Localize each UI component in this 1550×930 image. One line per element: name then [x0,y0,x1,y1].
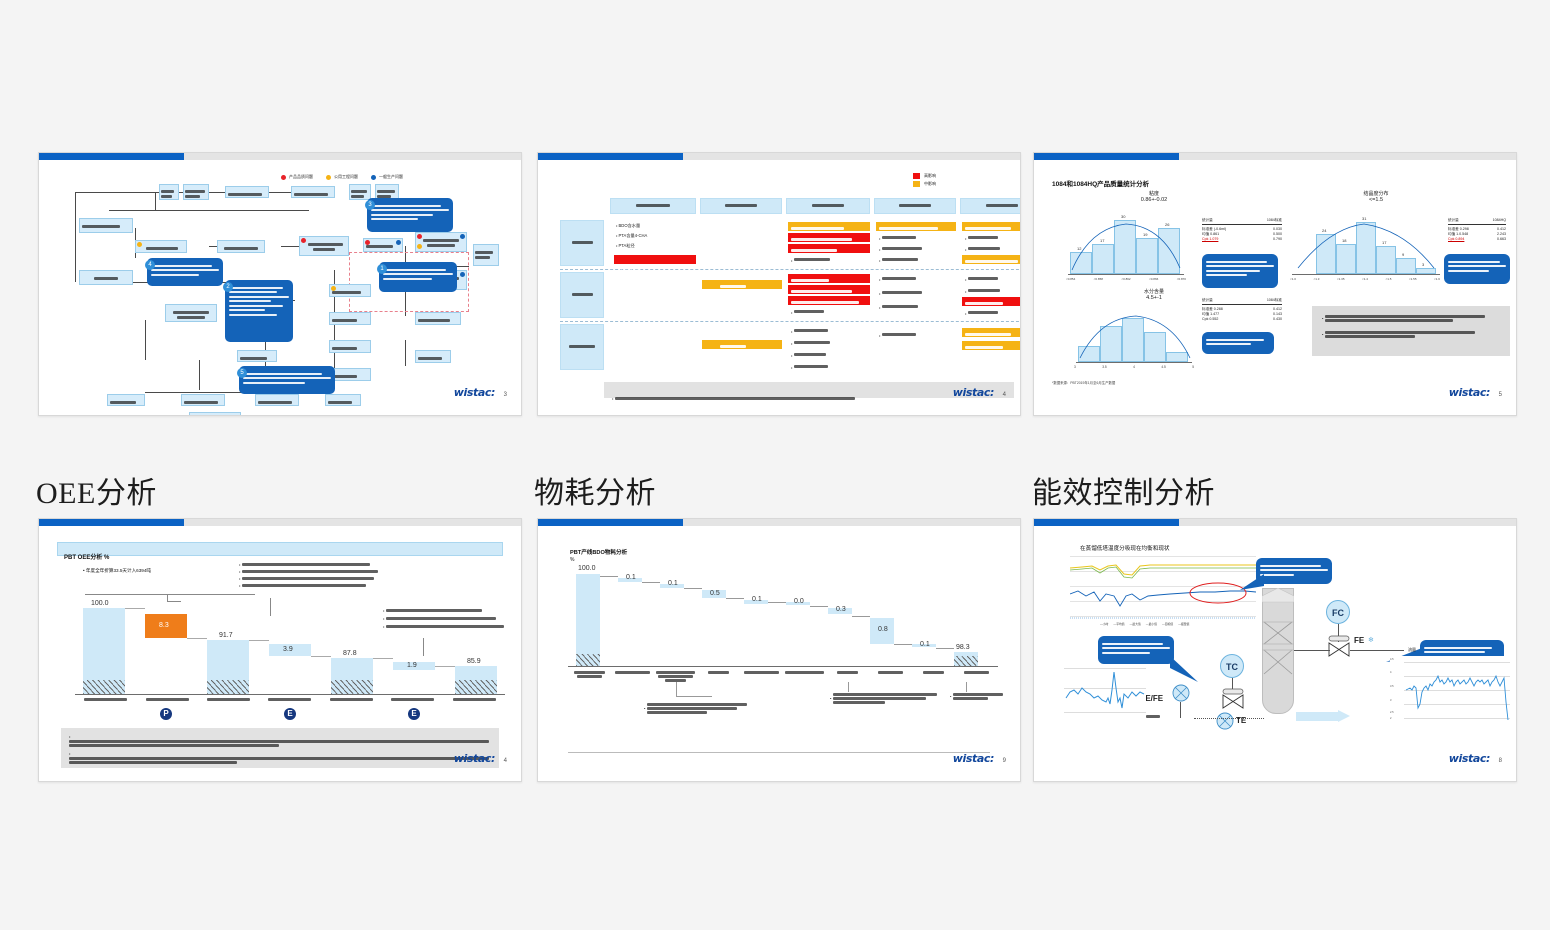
flow-node[interactable] [79,218,133,233]
flow-node[interactable] [415,312,461,325]
chart-a-subtitle: 0.86+-0.02 [1114,197,1194,203]
note-item: • [239,562,389,567]
status-dot-yellow [331,286,336,291]
instrument-tc[interactable]: TC [1220,654,1244,678]
annotation-leader [676,682,677,696]
footer-rule [568,752,990,753]
section-title-oee: OEE分析 [36,468,157,512]
slide-content: PBT产线BDO物耗分析 % 100.0 0.1 0.1 0.5 0.1 [548,536,1010,773]
waterfall-label: 98.3 [956,644,970,651]
normal-curve [1076,312,1196,362]
flow-node[interactable] [225,186,269,198]
waterfall-connector [435,666,455,667]
y-tick: 3 [1390,699,1391,702]
x-tick: 3.5 [1102,365,1106,369]
temperature-trend-chart: —小时 —平均值 —最大值 —最小值 —目标值 —报警值 [1060,556,1256,632]
status-dot-blue [396,240,401,245]
callout-chart-a[interactable] [1202,254,1278,288]
legend-dot-blue [371,175,376,180]
matrix-cell-mid[interactable] [962,341,1021,350]
status-dot-red [365,240,370,245]
x-category-labels [75,698,505,701]
flow-node[interactable] [159,184,179,200]
instrument-label-fe: FE [1354,636,1364,645]
outlet-arrow [1296,712,1340,721]
status-dot-blue [460,234,465,239]
legend-entry: —平均值 [1113,622,1124,626]
section-title-energy: 能效控制分析 [1032,468,1215,512]
matrix-cell-item: • [791,309,824,315]
chart-c-name: 水分含量 [1114,288,1194,295]
y-tick: 2 [1390,717,1391,720]
bar-hatch [207,680,249,694]
slide-material-consumption[interactable]: PBT产线BDO物耗分析 % 100.0 0.1 0.1 0.5 0.1 [537,518,1021,782]
legend-entry: —小时 [1100,622,1108,626]
matrix-cell-mid[interactable] [962,255,1021,264]
callout-badge-2: 2 [223,282,233,292]
waterfall-label: 8.3 [159,622,169,629]
flow-element-icon [1216,712,1234,730]
waterfall-label: 0.8 [878,626,888,633]
instrument-fc[interactable]: FC [1326,600,1350,624]
y-tick: 2.5 [1390,711,1394,714]
x-tick: <0.866 [1149,277,1158,281]
flow-node[interactable] [79,270,133,285]
waterfall-connector [600,576,618,577]
flow-node[interactable] [325,394,361,406]
status-dot-yellow [417,244,422,249]
brand-logo: wistac: [953,386,994,399]
stats-value: 0.790 [1273,237,1282,241]
x-tick: <0.858 [1094,277,1103,281]
page-number: 3 [504,392,507,398]
flow-connector [109,210,309,211]
annotation-left: • [644,702,764,715]
process-line [1350,650,1404,651]
screenshot-canvas: 产品品质问题 公用工程问题 一般生产问题 [0,0,1550,930]
cat-wrap [198,698,259,701]
flow-node[interactable] [349,184,371,200]
x-axis [1068,274,1184,275]
stats-header: 1084标准 [1267,218,1282,223]
callout-5[interactable] [239,366,335,394]
x-tick-labels: 3 3.5 4 4.5 5 [1074,365,1194,369]
legend-label-general: 一般生产问题 [379,174,403,180]
flow-connector [199,360,200,390]
stats-table-b: 统计量 1084HQ 标准差 0.298 0.412 均值 1.0.548 2.… [1448,218,1506,241]
slide-accent-bar [39,153,184,160]
slide-process-flow[interactable]: 产品品质问题 公用工程问题 一般生产问题 [38,152,522,416]
page-number: 5 [1499,392,1502,398]
flow-node[interactable] [473,244,499,266]
leader-line [270,598,271,616]
bottom-note-item: • [69,734,491,748]
callout-steam-condensate[interactable] [1256,558,1332,584]
stream-label-condensate [1146,712,1160,722]
matrix-cell-item: • [965,246,1000,252]
matrix-cell-item: • [965,235,998,241]
process-line [1180,702,1181,718]
cat-wrap [611,670,654,683]
cat-wrap [783,670,826,683]
matrix-cell-item: • [791,328,828,334]
page-number: 4 [504,758,507,764]
matrix-cell-high[interactable] [788,296,870,305]
x-tick: <1.3 [1313,277,1319,281]
oee-badge-performance: P [160,708,172,720]
matrix-cell-high[interactable] [962,297,1021,306]
matrix-cell-mid[interactable] [876,222,956,231]
chart-a-name: 粘度 [1114,190,1194,197]
slide-accent-rest [184,519,521,526]
slide-accent-bar [1034,153,1179,160]
matrix-row-header [560,324,604,370]
slide-accent-rest [184,153,521,160]
callout-4[interactable] [147,258,223,286]
cat-wrap [259,698,320,701]
matrix-cell-item: • [879,304,918,310]
flow-node[interactable] [165,304,217,322]
waterfall-bar-total [576,574,600,666]
page-number: 4 [1003,392,1006,398]
matrix-cell-mid[interactable] [702,280,782,289]
matrix-row-header [560,272,604,318]
chart-title: PBT产线BDO物耗分析 [570,548,627,556]
status-dot-red [301,238,306,243]
x-tick: <1.4 [1362,277,1368,281]
conclusion-item: • [1322,330,1500,339]
callout-tail [1240,574,1264,592]
bottom-note-item: • [69,751,491,765]
brand-logo: wistac: [454,386,495,399]
matrix-cell-high[interactable] [788,233,870,242]
actuator-icon [1328,635,1350,642]
callout-badge-5: 5 [237,368,247,378]
flow-node[interactable] [183,184,209,200]
waterfall-connector [642,582,660,583]
cat-wrap [912,670,955,683]
flow-node[interactable] [255,394,299,406]
cat-wrap [697,670,740,683]
stats-table-a: 统计量 1084标准 标准差 (-0.6ml) 0.030 均值 0.861 0… [1202,218,1282,241]
brand-logo: wistac: [1449,386,1490,399]
flow-connector [145,320,146,360]
cat-wrap [869,670,912,683]
note-item: • [239,583,389,588]
x-tick: <1.5 [1385,277,1391,281]
callout-badge-4: 4 [145,260,155,270]
legend-dot-red [281,175,286,180]
legend-label-high: 高影响 [924,173,936,179]
bracket-line [85,594,255,595]
legend-label-utility: 公用工程问题 [334,174,358,180]
x-tick: <1.0 [1290,277,1296,281]
legend-entry: —报警值 [1178,622,1189,626]
flow-node[interactable] [237,350,277,362]
stats-value: 0.430 [1273,317,1282,321]
matrix-cell-item: • [965,310,998,316]
chart-unit: % [570,557,574,563]
oee-badge-quality: E [408,708,420,720]
waterfall-connector [125,608,145,609]
x-tick: 4 [1133,365,1135,369]
callout-badge-1: 1 [377,264,387,274]
notes-top: • • • • [239,562,389,588]
callout-1[interactable] [379,262,457,292]
matrix-cell-high[interactable] [788,274,870,283]
flow-connector [405,340,406,366]
waterfall-label: 0.1 [920,641,930,648]
slide-accent-bar [39,519,184,526]
waterfall-label: 85.9 [467,658,481,665]
stats-table-c: 统计量 1084标准 标准差 0.288 0.412 均值 1.477 0.14… [1202,298,1282,321]
x-tick: 5 [1192,365,1194,369]
bottom-notes: • • [61,728,499,768]
matrix-cell-mid[interactable] [788,222,870,231]
y-tick: 4 [1390,671,1391,674]
arrow-icon [1338,710,1352,723]
x-tick: 3 [1074,365,1076,369]
stats-header: 统计量 [1448,218,1459,223]
annotation-leader [966,682,967,692]
waterfall-connector [894,644,912,645]
slide-accent-bar [538,153,683,160]
status-dot-blue [460,272,465,277]
trend-legend: —小时 —平均值 —最大值 —最小值 —目标值 —报警值 [1100,622,1189,626]
stats-header: 1084HQ [1493,218,1506,223]
note-item: • [239,569,389,574]
matrix-row-divider [560,321,1021,322]
footnote: *数据来源：PBT2019年1月至6月生产数据 [1052,380,1115,385]
chart-title: 在蒸馏低塔温度分吸现在均衡和现状 [1080,544,1170,552]
normal-curve [1068,216,1188,274]
notes-right: • • • [383,608,513,629]
legend-item-quality: 产品品质问题 [281,174,313,180]
chart-title-bar: PBT OEE分析 % [57,542,503,556]
flow-connector [75,192,76,282]
slide-energy-control[interactable]: 在蒸馏低塔温度分吸现在均衡和现状 [1033,518,1517,782]
section-title-material: 物耗分析 [534,468,656,512]
matrix-cell-item: • [879,246,922,252]
flow-node[interactable] [217,240,265,253]
legend-label-mid: 中影响 [924,181,936,187]
bar-hatch [576,654,600,666]
annotation-leader [848,682,849,692]
stats-value: 0.663 [1497,237,1506,241]
flow-node[interactable] [329,368,371,381]
note-left: • 年度全年折算33.5天计入6394吨 [83,568,151,574]
matrix-cell-item: • [879,276,916,282]
flow-node[interactable] [329,340,371,353]
bar-hatch [83,680,125,694]
x-tick: <1.55 [1409,277,1417,281]
legend-entry: —最大值 [1130,622,1141,626]
waterfall-connector [249,640,269,641]
stats-header: 统计量 [1202,218,1213,223]
slide-accent-rest [1179,519,1516,526]
waterfall-connector [936,648,954,649]
slide-content: 高影响 中影响 • BDO含水量 [548,170,1010,407]
y-tick: 3.5 [1390,685,1394,688]
callout-chart-c[interactable] [1202,332,1274,354]
chart-b-subtitle: <=1.5 [1336,197,1416,203]
flow-node[interactable] [181,394,225,406]
valve-icon [1328,642,1350,658]
trend-line [1064,664,1146,718]
flow-node[interactable] [135,240,187,253]
x-tick: <0.870 [1177,277,1186,281]
matrix-cell-item: • [879,235,916,241]
legend-item-utility: 公用工程问题 [326,174,358,180]
cat-wrap [568,670,611,683]
flow-node[interactable] [415,350,451,363]
callout-chart-b[interactable] [1444,254,1510,284]
waterfall-label: 0.1 [752,596,762,603]
waterfall-connector [810,606,828,607]
column-internals-icon [1262,588,1294,714]
x-tick: 4.5 [1161,365,1165,369]
x-tick: <1.6 [1434,277,1440,281]
flow-connector [155,192,156,210]
waterfall-label: 0.3 [836,606,846,613]
note-left-text: 年度全年折算33.5天计入6394吨 [86,568,151,573]
process-line [1294,650,1330,651]
note-item: • [383,616,513,621]
legend-dot-yellow [326,175,331,180]
brand-logo: wistac: [454,752,495,765]
x-axis [568,666,998,667]
slide-content: 产品品质问题 公用工程问题 一般生产问题 [49,170,511,407]
chart-c-subtitle: 4.5+-1 [1114,295,1194,301]
matrix-cell-mid[interactable] [962,222,1021,231]
matrix-col-header [960,198,1021,214]
slide-content: PBT OEE分析 % • 年度全年折算33.5天计入6394吨 • • • •… [49,536,511,773]
slide-accent-rest [683,153,1020,160]
callout-steam-temperature[interactable] [1098,636,1174,664]
legend-item-general: 一般生产问题 [371,174,403,180]
slide-accent-bar [1034,519,1179,526]
matrix-col-header [610,198,696,214]
flow-element-icon [1172,684,1190,702]
matrix-cell-item: • [879,257,918,263]
legend-label-quality: 产品品质问题 [289,174,313,180]
matrix-legend: 高影响 中影响 [913,173,936,187]
flow-node[interactable] [299,236,349,256]
x-tick: <0.862 [1121,277,1130,281]
slide-content: 在蒸馏低塔温度分吸现在均衡和现状 [1044,536,1506,773]
instrument-tag-fc: FC [1332,608,1344,618]
callout-tail [1170,656,1200,684]
conclusion-item: • [1322,314,1500,323]
x-axis [1076,362,1192,363]
callout-2[interactable] [225,280,293,342]
valve-icon [1222,694,1244,710]
matrix-cell-item: • [965,288,1000,294]
x-tick-labels: <1.0 <1.3 <1.35 <1.4 <1.5 <1.55 <1.6 [1290,277,1440,281]
matrix-cell-items: • BDO含水量 • PTA含量4-CHA • PTA粒径 [616,223,696,253]
cat-wrap [955,670,998,683]
conclusion-box: • • [1312,306,1510,356]
waterfall-label: 87.8 [343,650,357,657]
slide-oee-analysis[interactable]: PBT OEE分析 % • 年度全年折算33.5天计入6394吨 • • • •… [38,518,522,782]
matrix-col-header [786,198,870,214]
waterfall-label: 0.5 [710,590,720,597]
flow-node[interactable] [291,186,335,198]
slide-title: 1084和1084HQ产品质量统计分析 [1052,178,1149,188]
waterfall-connector [373,658,393,659]
matrix-cell-high[interactable] [788,244,870,253]
flow-node[interactable] [107,394,145,406]
matrix-cell-item: • [791,257,830,263]
legend: 产品品质问题 公用工程问题 一般生产问题 [281,174,403,180]
bar-hatch [954,656,978,666]
waterfall-connector [187,638,207,639]
flow-node[interactable] [189,412,241,416]
waterfall-label: 0.1 [626,574,636,581]
snowflake-icon: ❄ [1368,636,1374,644]
waterfall-label: 100.0 [91,600,109,607]
chart-title: PBT OEE分析 % [64,555,109,561]
waterfall-connector [311,656,331,657]
slide-accent-bar [538,519,683,526]
x-tick: <0.854 [1066,277,1075,281]
waterfall-connector [852,616,870,617]
page-number: 9 [1003,758,1006,764]
waterfall-label: 1.9 [407,662,417,669]
callout-3[interactable] [367,198,453,232]
trend-line [1404,656,1510,722]
legend-item-mid: 中影响 [913,181,936,187]
matrix-cell-item: • [791,352,826,358]
matrix-cell-item: • [965,276,998,282]
x-axis [75,694,505,695]
flow-trend-chart: 4.5 4 3.5 3 2.5 2 流量 [1390,656,1510,722]
bar-hatch [455,680,497,694]
cat-wrap [75,698,136,701]
slide-quality-statistics[interactable]: 1084和1084HQ产品质量统计分析 粘度 0.86+-0.02 12 17 … [1033,152,1517,416]
bar-hatch [331,680,373,694]
matrix-cell-mid[interactable] [962,328,1021,337]
matrix-row-header [560,220,604,266]
matrix-col-header [700,198,782,214]
note-item: • [383,608,513,613]
cat-wrap [136,698,197,701]
matrix-cell-item: • [879,290,922,296]
chart-c-title-block: 水分含量 4.5+-1 [1114,288,1194,301]
chart-b-name: 结晶度分布 [1336,190,1416,197]
note-item: • [239,576,389,581]
x-axis [1292,274,1440,275]
x-tick: <1.35 [1337,277,1345,281]
matrix-cell-high[interactable]: • PTA含水量 [614,255,696,264]
page-number: 8 [1499,758,1502,764]
legend-entry: —最小值 [1146,622,1157,626]
legend-item-high: 高影响 [913,173,936,179]
note-item: • [383,624,513,629]
cat-wrap [321,698,382,701]
cat-wrap [444,698,505,701]
matrix-cell-high[interactable] [788,285,870,294]
matrix-cell-mid[interactable] [702,340,782,349]
waterfall-connector [768,602,786,603]
y-tick: 4.5 [1390,658,1394,661]
x-category-labels [568,670,998,683]
flow-node[interactable] [329,312,371,325]
waterfall-label: 3.9 [283,646,293,653]
slide-impact-matrix[interactable]: 高影响 中影响 • BDO含水量 [537,152,1021,416]
bracket-stem [167,601,181,602]
slide-content: 1084和1084HQ产品质量统计分析 粘度 0.86+-0.02 12 17 … [1044,170,1506,407]
